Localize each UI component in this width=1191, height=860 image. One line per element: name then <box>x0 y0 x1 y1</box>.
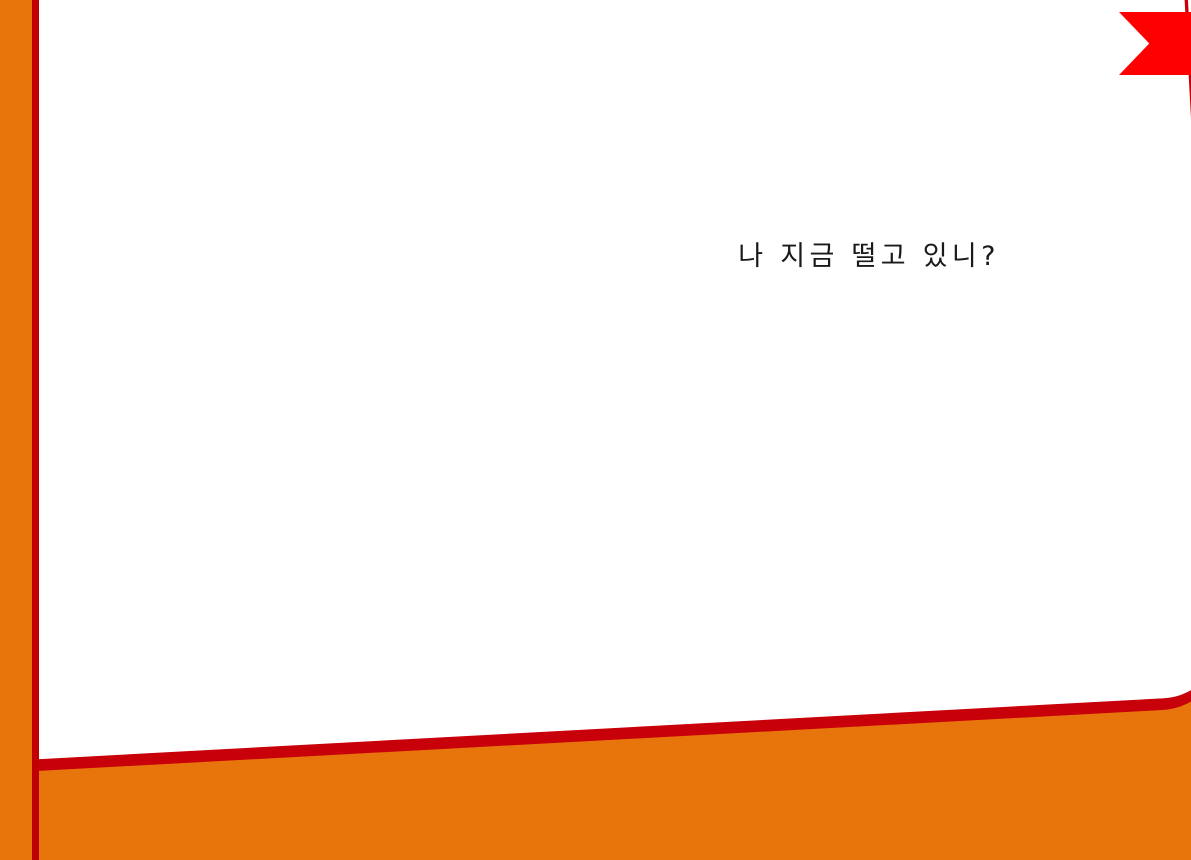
left-orange-border <box>0 0 32 860</box>
slide-canvas: 선거 입니다 공정한 <box>0 0 1191 860</box>
thought-bubble-text: 나 지금 떨고 있니? <box>614 234 1124 273</box>
left-red-border <box>32 0 39 860</box>
white-content-sheet <box>0 0 1191 760</box>
